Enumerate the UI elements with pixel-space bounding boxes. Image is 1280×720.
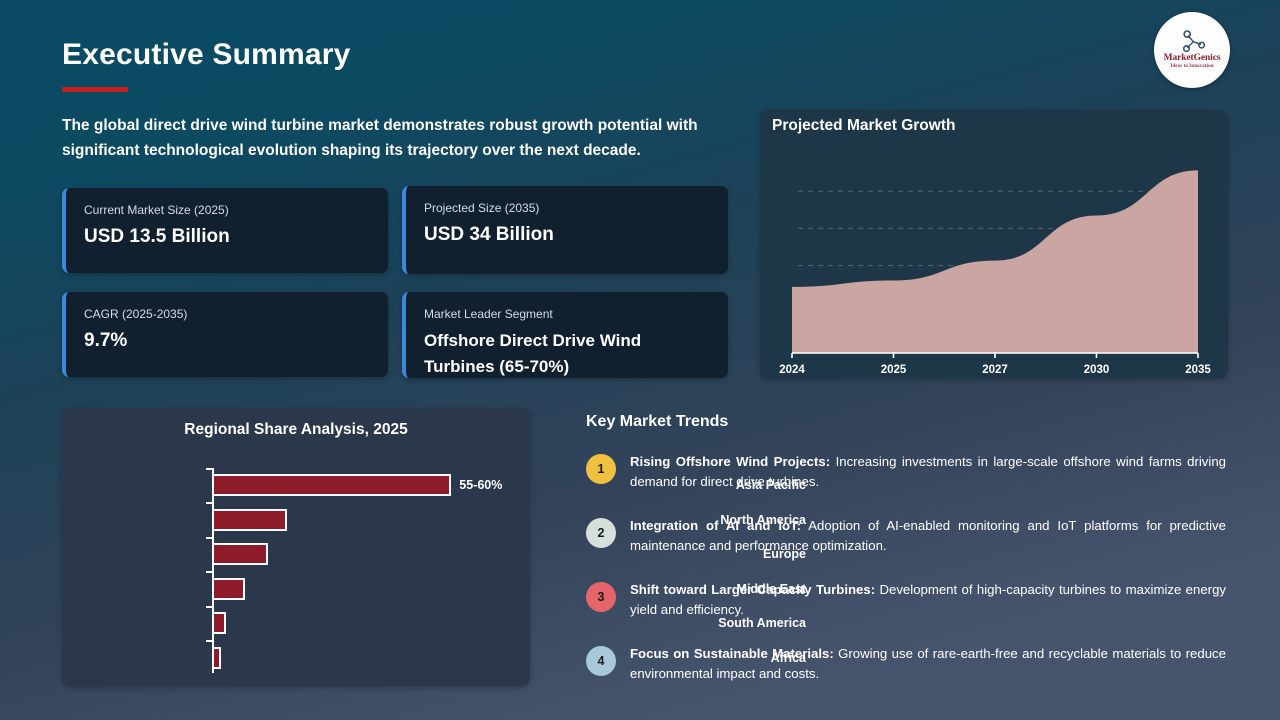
trend-number-badge: 3: [586, 582, 616, 612]
regional-share-analysis-chart: Regional Share Analysis, 2025: [62, 408, 530, 686]
stat-card-label: Market Leader Segment: [424, 306, 710, 322]
trend-number-badge: 4: [586, 646, 616, 676]
chart-x-tick-label: 2035: [1185, 364, 1211, 376]
stat-card-value: USD 34 Billion: [424, 222, 710, 248]
bar-rect: [212, 543, 268, 565]
stat-card-projected-size: Projected Size (2035) USD 34 Billion: [402, 186, 728, 274]
trend-lead: Rising Offshore Wind Projects:: [630, 454, 830, 469]
bar-chart-tick: [206, 571, 213, 573]
bar-rect: [212, 474, 451, 496]
projected-market-growth-chart: Projected Market Growth 2024202520272030…: [760, 110, 1228, 378]
chart-title: Regional Share Analysis, 2025: [62, 421, 530, 439]
page-subtitle: The global direct drive wind turbine mar…: [62, 113, 722, 163]
stat-card-current-market-size: Current Market Size (2025) USD 13.5 Bill…: [62, 188, 388, 273]
stat-card-value: USD 13.5 Billion: [84, 224, 370, 250]
bar-rect: [212, 647, 221, 669]
chart-x-tick-label: 2027: [982, 364, 1008, 376]
trend-lead: Shift toward Larger Capacity Turbines:: [630, 582, 875, 597]
page-title: Executive Summary: [62, 38, 351, 72]
bar-chart-tick: [206, 606, 213, 608]
stat-card-cagr: CAGR (2025-2035) 9.7%: [62, 292, 388, 377]
trend-number-badge: 2: [586, 518, 616, 548]
bar-value-label: 55-60%: [459, 478, 502, 492]
logo-tagline: Ideas to Innovation: [1170, 63, 1213, 70]
trend-text: Rising Offshore Wind Projects: Increasin…: [630, 452, 1226, 492]
stat-card-label: Current Market Size (2025): [84, 202, 370, 218]
bar-chart-tick: [206, 468, 213, 470]
bar-rect: [212, 509, 287, 531]
stat-card-market-leader-segment: Market Leader Segment Offshore Direct Dr…: [402, 292, 728, 378]
bar-chart-tick: [206, 537, 213, 539]
area-chart-canvas: [760, 144, 1228, 378]
trend-item: 1 Rising Offshore Wind Projects: Increas…: [586, 452, 1226, 492]
key-market-trends-heading: Key Market Trends: [586, 413, 728, 431]
trend-text: Shift toward Larger Capacity Turbines: D…: [630, 580, 1226, 620]
network-nodes-icon: [1178, 30, 1206, 52]
bar-chart-tick: [206, 640, 213, 642]
trend-text: Integration of AI and IoT: Adoption of A…: [630, 516, 1226, 556]
title-accent-rule: [62, 87, 128, 92]
trend-lead: Integration of AI and IoT:: [630, 518, 801, 533]
logo: MarketGenics Ideas to Innovation: [1154, 12, 1230, 88]
chart-x-tick-label: 2030: [1084, 364, 1110, 376]
logo-brand-name: MarketGenics: [1164, 53, 1221, 63]
stat-card-value: Offshore Direct Drive Wind Turbines (65-…: [424, 328, 710, 378]
chart-x-tick-label: 2025: [881, 364, 907, 376]
trend-item: 3 Shift toward Larger Capacity Turbines:…: [586, 580, 1226, 620]
bar-rect: [212, 578, 245, 600]
trend-number-badge: 1: [586, 454, 616, 484]
trend-item: 2 Integration of AI and IoT: Adoption of…: [586, 516, 1226, 556]
stat-card-value: 9.7%: [84, 328, 370, 354]
bar-rect: [212, 612, 226, 634]
trend-text: Focus on Sustainable Materials: Growing …: [630, 644, 1226, 684]
trend-lead: Focus on Sustainable Materials:: [630, 646, 834, 661]
chart-title: Projected Market Growth: [772, 117, 955, 135]
chart-x-tick-label: 2024: [779, 364, 805, 376]
bar-chart-tick: [206, 502, 213, 504]
stat-card-label: Projected Size (2035): [424, 200, 710, 216]
area-series-path: [792, 170, 1198, 353]
stat-card-label: CAGR (2025-2035): [84, 306, 370, 322]
trend-item: 4 Focus on Sustainable Materials: Growin…: [586, 644, 1226, 684]
